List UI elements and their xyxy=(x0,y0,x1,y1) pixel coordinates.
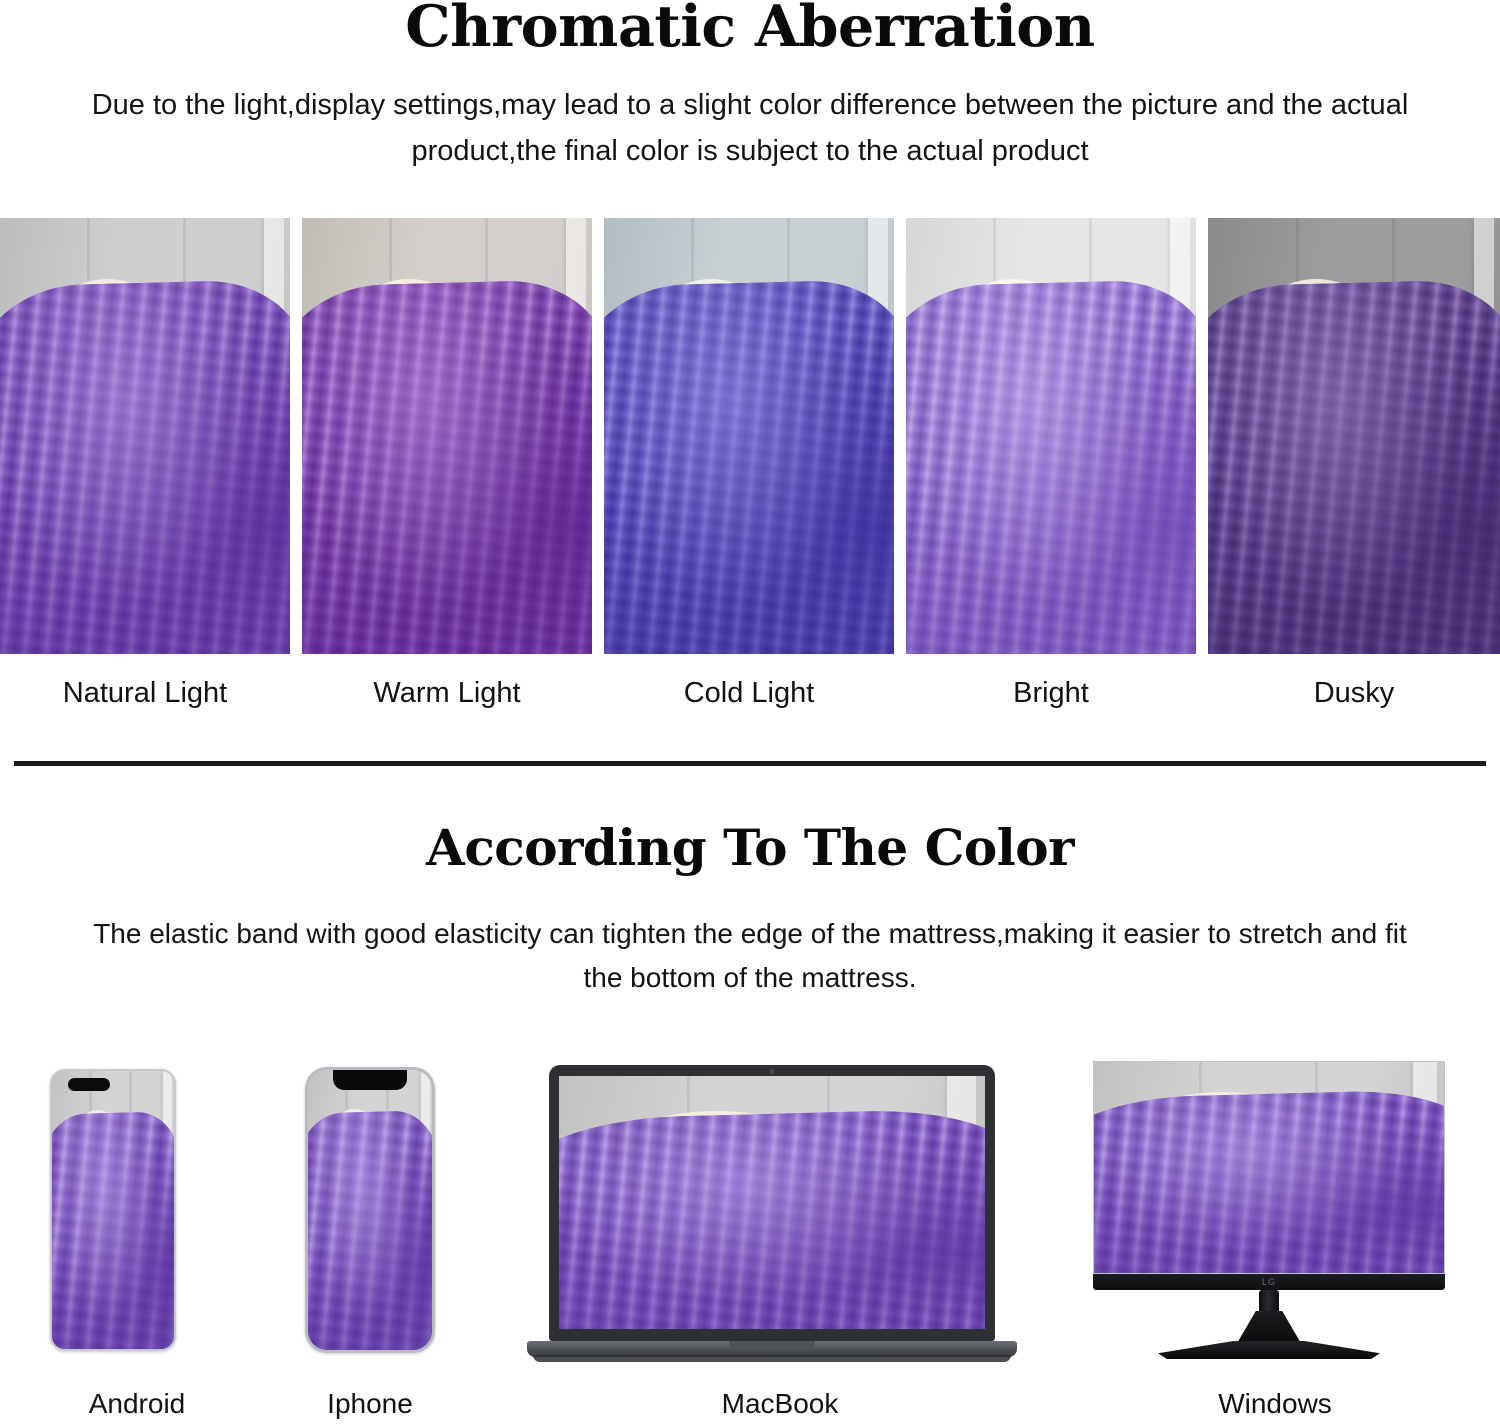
faux-fur-blanket xyxy=(906,279,1196,654)
light-condition-panel-row xyxy=(0,218,1500,654)
page-title-chromatic-aberration: Chromatic Aberration xyxy=(0,0,1500,58)
product-scene xyxy=(1208,218,1500,654)
light-panel-label-cold-light: Cold Light xyxy=(604,676,894,710)
light-panel-label-warm-light: Warm Light xyxy=(302,676,592,710)
product-scene xyxy=(906,218,1196,654)
light-panel-natural-light xyxy=(0,218,290,654)
blanket-sheen xyxy=(559,1107,985,1329)
blanket-sheen xyxy=(302,279,592,654)
device-label-android: Android xyxy=(12,1388,262,1420)
android-camera-notch-icon xyxy=(68,1078,110,1091)
blanket-sheen xyxy=(906,279,1196,654)
light-panel-dusky xyxy=(1208,218,1500,654)
light-panel-label-natural-light: Natural Light xyxy=(0,676,290,710)
blanket-sheen xyxy=(0,279,290,654)
product-scene xyxy=(559,1076,985,1329)
light-panel-label-dusky: Dusky xyxy=(1208,676,1500,710)
device-label-iphone: Iphone xyxy=(250,1388,490,1420)
android-screen xyxy=(52,1071,174,1349)
macbook-screen xyxy=(559,1076,985,1329)
monitor-stand-base xyxy=(1158,1341,1380,1359)
monitor-screen xyxy=(1093,1061,1445,1274)
product-scene xyxy=(604,218,894,654)
blanket-sheen xyxy=(1208,279,1500,654)
faux-fur-blanket xyxy=(559,1107,985,1329)
windows-monitor-icon: LG xyxy=(1093,1061,1445,1365)
blanket-sheen xyxy=(52,1111,174,1349)
macbook-laptop-icon xyxy=(527,1065,1017,1365)
faux-fur-blanket xyxy=(1208,279,1500,654)
chromatic-aberration-description: Due to the light,display settings,may le… xyxy=(60,82,1440,174)
light-panel-label-bright: Bright xyxy=(906,676,1196,710)
macbook-lid xyxy=(549,1065,995,1341)
light-panel-warm-light xyxy=(302,218,592,654)
faux-fur-blanket xyxy=(1093,1088,1445,1274)
faux-fur-blanket xyxy=(52,1111,174,1349)
device-label-macbook: MacBook xyxy=(600,1388,960,1420)
light-panel-bright xyxy=(906,218,1196,654)
page-title-according-to-the-color: According To The Color xyxy=(0,820,1500,876)
light-panel-cold-light xyxy=(604,218,894,654)
product-scene xyxy=(308,1070,432,1350)
device-preview-row: LG xyxy=(0,1055,1500,1365)
monitor-stand-cone xyxy=(1236,1311,1302,1345)
blanket-sheen xyxy=(1093,1088,1445,1274)
iphone-screen xyxy=(308,1070,432,1350)
macbook-foot xyxy=(533,1355,1011,1362)
product-scene xyxy=(1094,1062,1444,1273)
monitor-brand-mark: LG xyxy=(1262,1277,1276,1287)
iphone-notch-icon xyxy=(333,1070,407,1090)
monitor-stand-neck xyxy=(1259,1290,1279,1314)
webcam-icon xyxy=(770,1069,775,1074)
product-scene xyxy=(302,218,592,654)
faux-fur-blanket xyxy=(302,279,592,654)
faux-fur-blanket xyxy=(604,279,894,654)
section-divider xyxy=(14,761,1486,766)
blanket-sheen xyxy=(308,1110,432,1350)
faux-fur-blanket xyxy=(308,1110,432,1350)
faux-fur-blanket xyxy=(0,279,290,654)
iphone-icon xyxy=(305,1067,435,1353)
product-scene xyxy=(0,218,290,654)
android-phone-icon xyxy=(50,1069,176,1351)
device-label-windows: Windows xyxy=(1110,1388,1440,1420)
product-scene xyxy=(52,1071,174,1349)
macbook-base-notch xyxy=(729,1341,815,1350)
blanket-sheen xyxy=(604,279,894,654)
according-to-the-color-description: The elastic band with good elasticity ca… xyxy=(80,912,1420,1000)
